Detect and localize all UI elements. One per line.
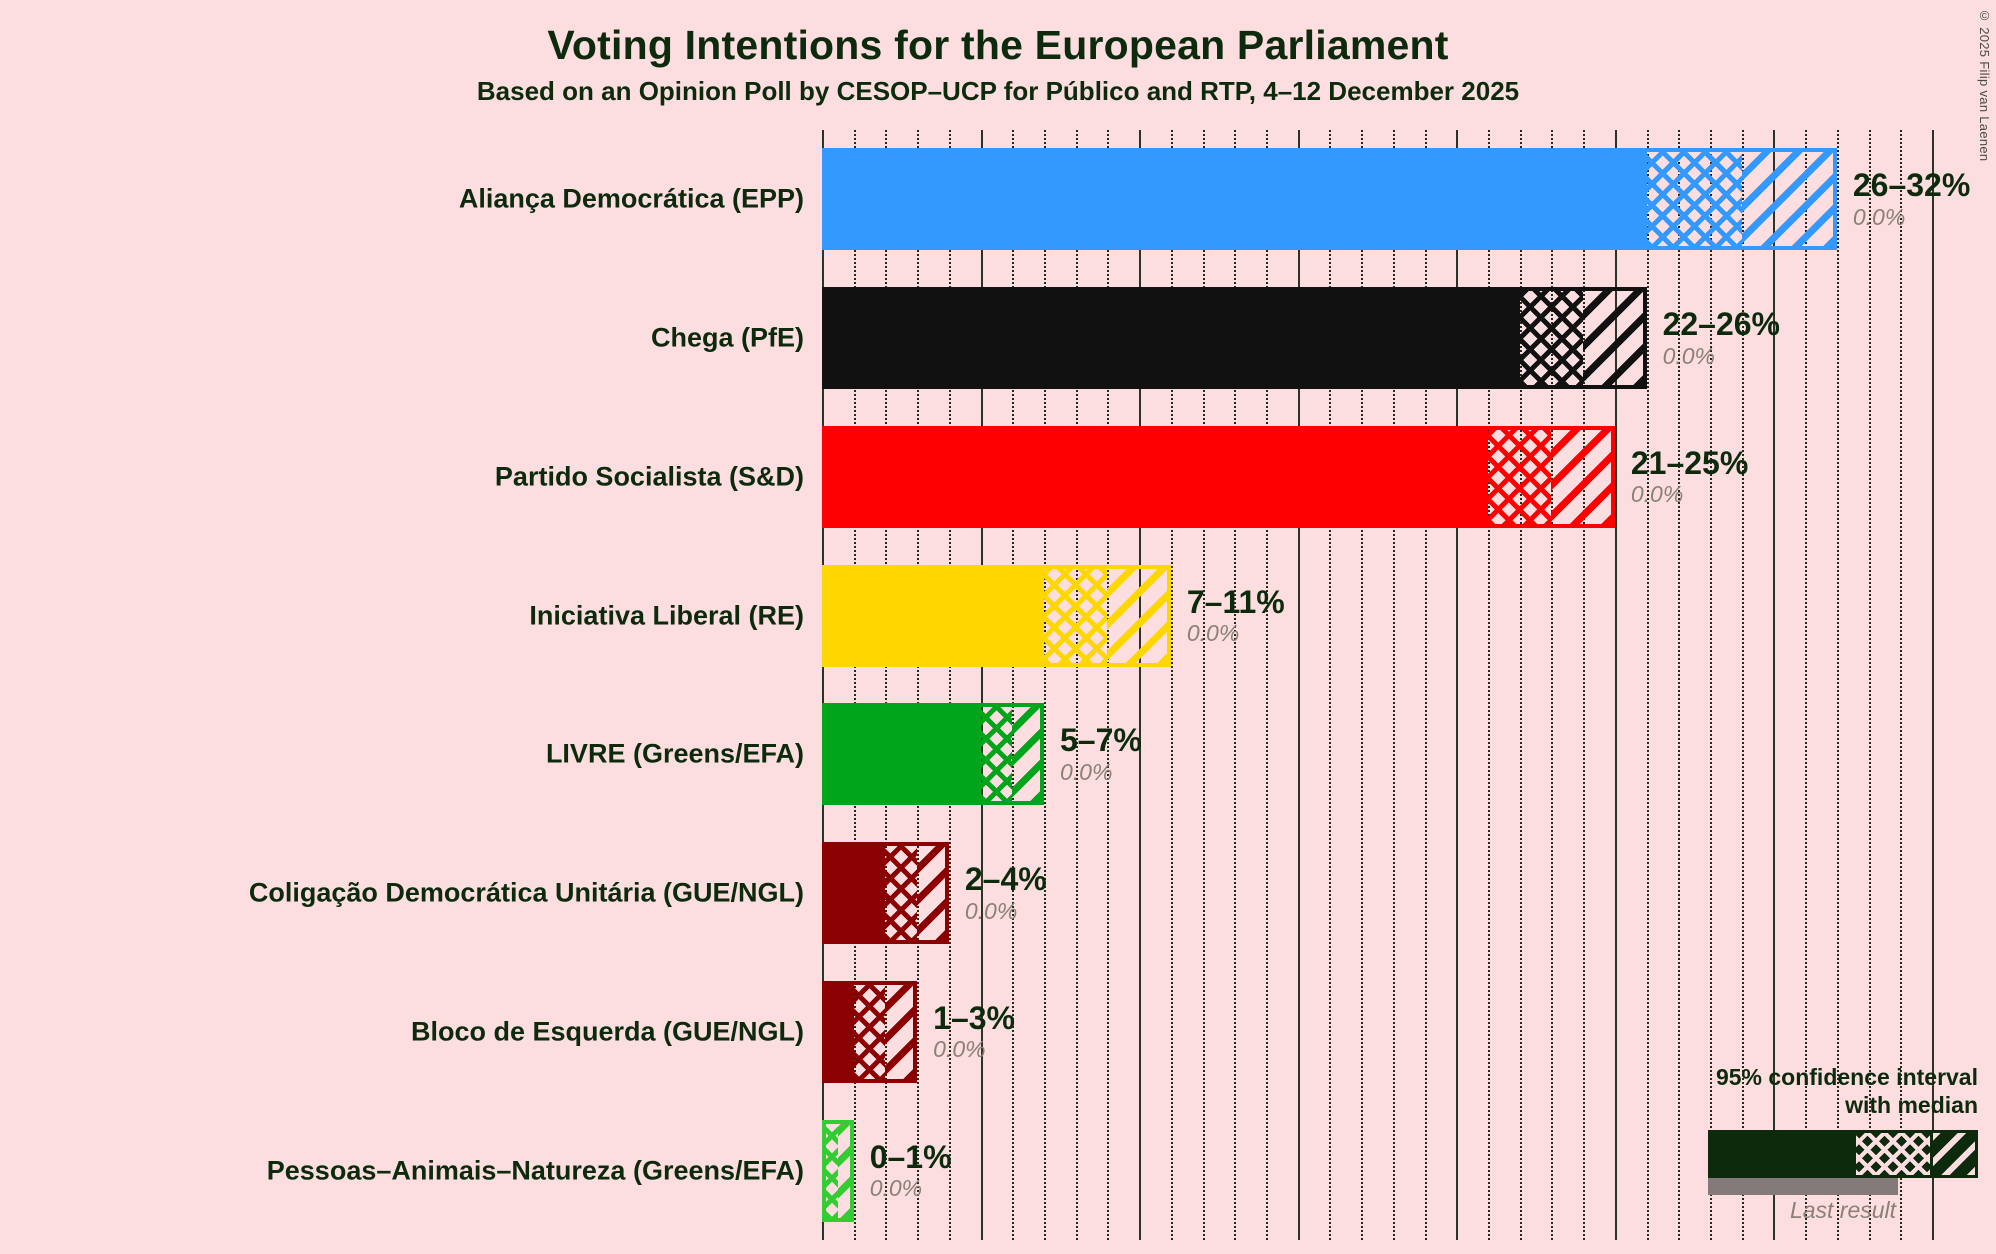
bar-diagonal-segment [1012, 707, 1040, 801]
bar-category-label: Bloco de Esquerda (GUE/NGL) [411, 1016, 804, 1047]
confidence-interval-bar [822, 703, 1044, 805]
confidence-interval-bar [822, 981, 917, 1083]
bar-solid-segment [826, 707, 981, 801]
bar-category-label: Partido Socialista (S&D) [495, 461, 804, 492]
bar-value-labels: 21–25%0.0% [1631, 447, 1748, 507]
legend-last-result-bar [1708, 1178, 1898, 1195]
copyright-notice: © 2025 Filip van Laenen [1977, 8, 1992, 161]
bar-row: Chega (PfE)22–26%0.0% [822, 287, 1932, 389]
bar-row: Coligação Democrática Unitária (GUE/NGL)… [822, 842, 1932, 944]
bar-row: Partido Socialista (S&D)21–25%0.0% [822, 426, 1932, 528]
bar-crosshatch-segment [854, 985, 886, 1079]
bar-category-label: Iniciativa Liberal (RE) [529, 600, 804, 631]
bar-diagonal-segment [885, 985, 913, 1079]
chart-subtitle: Based on an Opinion Poll by CESOP–UCP fo… [0, 76, 1996, 107]
chart-root: Voting Intentions for the European Parli… [0, 0, 1996, 1254]
bar-last-result-label: 0.0% [1663, 344, 1780, 368]
bar-solid-segment [826, 152, 1647, 246]
bar-row: LIVRE (Greens/EFA)5–7%0.0% [822, 703, 1932, 805]
bar-value-labels: 2–4%0.0% [965, 863, 1047, 923]
bar-range-label: 5–7% [1060, 725, 1142, 759]
bar-value-labels: 22–26%0.0% [1663, 308, 1780, 368]
bar-last-result-label: 0.0% [933, 1038, 1015, 1062]
bar-solid-segment [826, 291, 1520, 385]
bar-diagonal-segment [917, 846, 945, 940]
bar-last-result-label: 0.0% [1060, 760, 1142, 784]
bar-solid-segment [826, 430, 1488, 524]
legend-title: 95% confidence interval with median [1668, 1063, 1978, 1121]
legend-crosshatch-segment [1856, 1133, 1930, 1175]
bar-category-label: Chega (PfE) [651, 323, 804, 354]
bar-value-labels: 26–32%0.0% [1853, 170, 1970, 230]
bar-solid-segment [826, 985, 854, 1079]
bar-last-result-label: 0.0% [870, 1176, 952, 1200]
bar-value-labels: 7–11%0.0% [1187, 586, 1285, 646]
bar-category-label: LIVRE (Greens/EFA) [546, 739, 804, 770]
bar-diagonal-segment [1583, 291, 1642, 385]
bar-last-result-label: 0.0% [1187, 621, 1285, 645]
legend-last-result-label: Last result [1708, 1197, 1978, 1224]
confidence-interval-bar [822, 565, 1171, 667]
bar-solid-segment [826, 569, 1044, 663]
bar-range-label: 21–25% [1631, 447, 1748, 481]
confidence-interval-bar [822, 148, 1837, 250]
bar-value-labels: 1–3%0.0% [933, 1002, 1015, 1062]
bar-solid-segment [826, 846, 885, 940]
bar-category-label: Pessoas–Animais–Natureza (Greens/EFA) [267, 1155, 804, 1186]
bar-crosshatch-segment [1520, 291, 1583, 385]
bar-diagonal-segment [1742, 152, 1833, 246]
legend: 95% confidence interval with median Last… [1668, 1063, 1978, 1225]
confidence-interval-bar [822, 842, 949, 944]
bar-last-result-label: 0.0% [1853, 205, 1970, 229]
bar-range-label: 7–11% [1187, 586, 1285, 620]
bar-category-label: Coligação Democrática Unitária (GUE/NGL) [249, 878, 804, 909]
bar-row: Aliança Democrática (EPP)26–32%0.0% [822, 148, 1932, 250]
bar-crosshatch-segment [826, 1124, 838, 1218]
bar-crosshatch-segment [885, 846, 917, 940]
bar-crosshatch-segment [981, 707, 1013, 801]
legend-diagonal-segment [1930, 1133, 1975, 1175]
bar-range-label: 1–3% [933, 1002, 1015, 1036]
bar-last-result-label: 0.0% [1631, 483, 1748, 507]
bar-crosshatch-segment [1488, 430, 1551, 524]
bar-crosshatch-segment [1647, 152, 1742, 246]
page-title: Voting Intentions for the European Parli… [0, 22, 1996, 69]
confidence-interval-bar [822, 1120, 854, 1222]
bar-range-label: 2–4% [965, 863, 1047, 897]
legend-confidence-bar [1708, 1130, 1978, 1178]
legend-title-line2: with median [1668, 1091, 1978, 1120]
confidence-interval-bar [822, 426, 1615, 528]
bar-category-label: Aliança Democrática (EPP) [459, 184, 804, 215]
bar-range-label: 22–26% [1663, 308, 1780, 342]
bar-last-result-label: 0.0% [965, 899, 1047, 923]
bar-crosshatch-segment [1044, 569, 1107, 663]
bar-range-label: 26–32% [1853, 170, 1970, 204]
bar-range-label: 0–1% [870, 1141, 952, 1175]
legend-last-result-wrap [1708, 1178, 1978, 1195]
bar-diagonal-segment [838, 1124, 850, 1218]
bar-diagonal-segment [1551, 430, 1610, 524]
bar-value-labels: 0–1%0.0% [870, 1141, 952, 1201]
legend-title-line1: 95% confidence interval [1668, 1063, 1978, 1092]
bar-value-labels: 5–7%0.0% [1060, 725, 1142, 785]
confidence-interval-bar [822, 287, 1647, 389]
bar-diagonal-segment [1107, 569, 1166, 663]
bar-row: Iniciativa Liberal (RE)7–11%0.0% [822, 565, 1932, 667]
